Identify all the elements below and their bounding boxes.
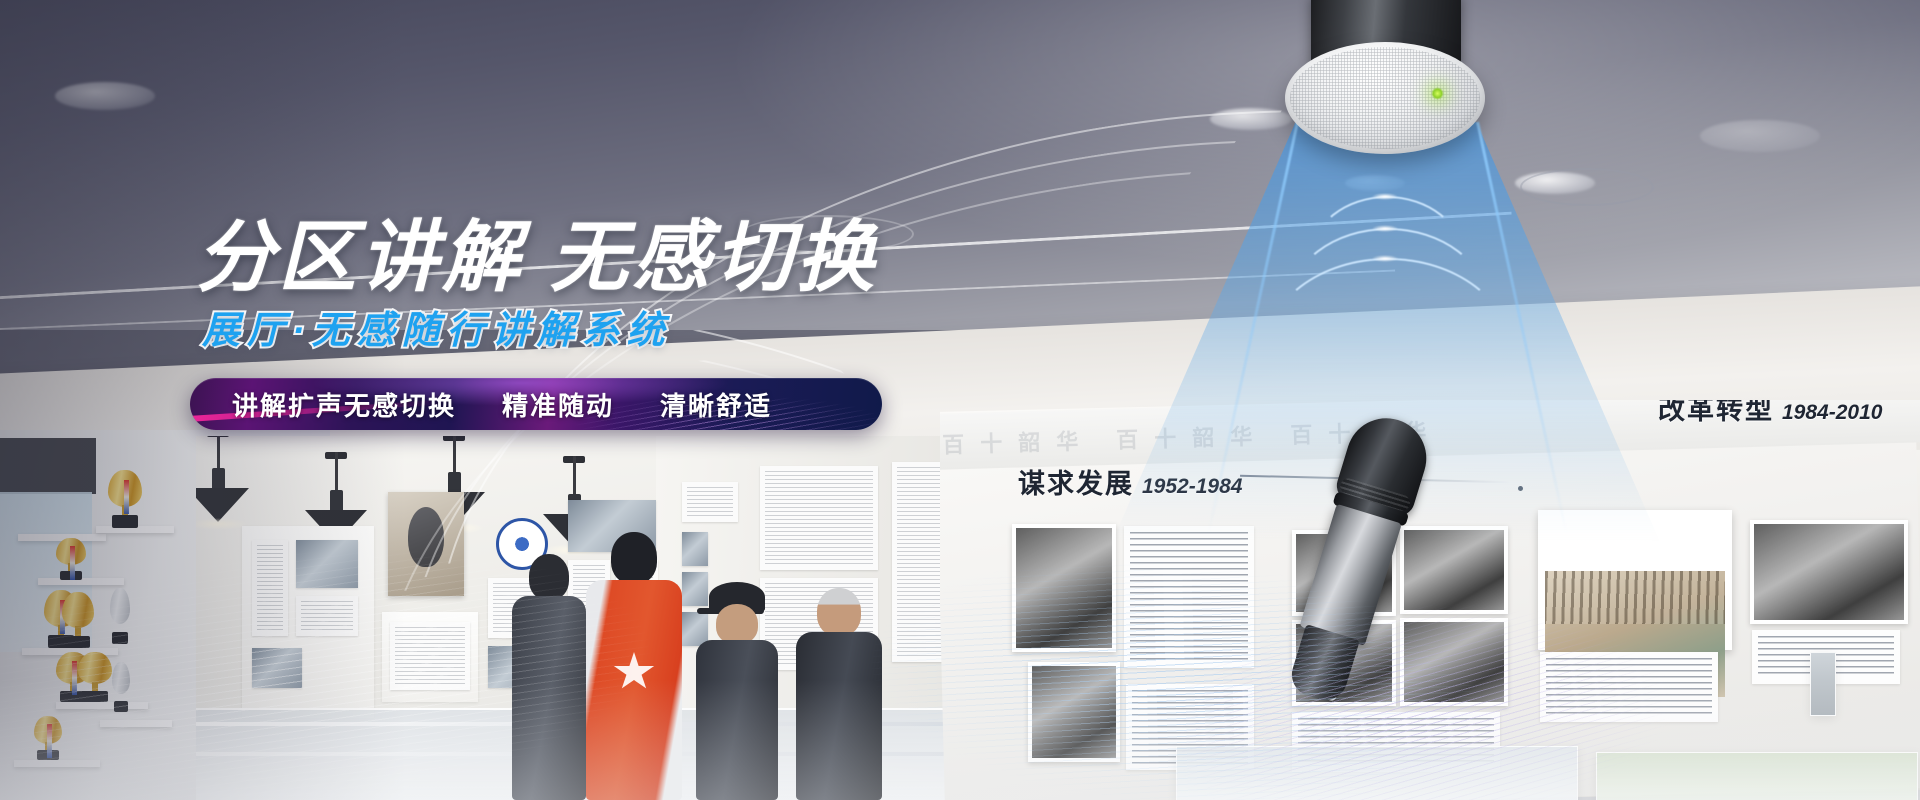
exhibit-text-block [252, 540, 288, 636]
ceiling-spotlight [1700, 120, 1820, 152]
trophy-figurine [110, 588, 130, 644]
historical-photo [1400, 618, 1508, 706]
portrait-photo [388, 492, 464, 596]
headline-block: 分区讲解无感切换 展厅·无感随行讲解系统 [196, 218, 1096, 350]
exhibit-text-block [682, 482, 738, 522]
exhibit-text-block [390, 622, 470, 690]
trophy [62, 592, 94, 648]
visitor-red-vest [586, 532, 682, 800]
page-subtitle: 展厅·无感随行讲解系统 [202, 312, 1096, 350]
exhibit-text-block [296, 596, 358, 636]
visitor [512, 554, 586, 800]
trophy [56, 538, 86, 580]
visitor-with-cap [696, 582, 778, 800]
section-title-text: 谋求发展 [1018, 469, 1134, 499]
ceiling-speaker-icon [1285, 0, 1485, 172]
historical-photo [1750, 520, 1908, 624]
history-text-block [1124, 526, 1254, 668]
visitor-elderly [796, 588, 882, 800]
exhibit-text-block [760, 466, 878, 570]
exhibit-photo [682, 532, 708, 566]
sound-wave-highlight [1372, 193, 1398, 200]
historical-photo [1012, 524, 1116, 652]
speaker-mesh-grille [1290, 47, 1480, 149]
historical-photo [1028, 662, 1120, 762]
speaker-dome [1285, 42, 1485, 154]
display-case [1176, 746, 1578, 800]
exhibit-photo [252, 648, 302, 688]
trophy-shelf [100, 720, 172, 727]
feature-badge-bar[interactable]: 讲解扩声无感切换 精准随动 清晰舒适 [190, 378, 882, 430]
feature-item-2: 精准随动 [502, 386, 614, 423]
ceiling-vent-ring [1520, 168, 1654, 206]
hero-banner: 百十韶华 百十韶华 百十韶华 谋求发展1952-1984 改革转型1984-20… [0, 0, 1920, 800]
page-title: 分区讲解无感切换 [196, 218, 1096, 296]
dark-panel [0, 438, 96, 494]
ceiling-spotlight [1210, 108, 1292, 130]
sound-wave-highlight [1372, 255, 1398, 262]
history-text-block [1540, 652, 1718, 722]
trophy [34, 716, 62, 760]
exhibit-section-title-2: 改革转型1984-2010 [1658, 400, 1882, 427]
feature-list: 讲解扩声无感切换 精准随动 清晰舒适 [190, 386, 772, 423]
section-title-years: 1984-2010 [1782, 401, 1882, 424]
feature-item-1: 讲解扩声无感切换 [232, 386, 456, 423]
exhibition-hall [196, 436, 956, 800]
section-title-text: 改革转型 [1658, 400, 1774, 425]
exhibit-photo [296, 540, 358, 588]
sound-wave-highlight [1372, 225, 1398, 232]
headline-part-1: 分区讲解 [196, 213, 524, 301]
feature-item-3: 清晰舒适 [660, 386, 772, 423]
ceiling-spotlight [55, 82, 155, 110]
speaker-status-led [1431, 87, 1444, 100]
display-case [1596, 752, 1918, 800]
trophy-figurine [112, 662, 130, 712]
trophy [108, 470, 142, 528]
trophy [78, 652, 112, 702]
trophy-shelf [56, 702, 148, 709]
pedestal [1810, 652, 1836, 716]
trophy-shelf [14, 760, 100, 767]
headline-part-2: 无感切换 [550, 213, 878, 301]
